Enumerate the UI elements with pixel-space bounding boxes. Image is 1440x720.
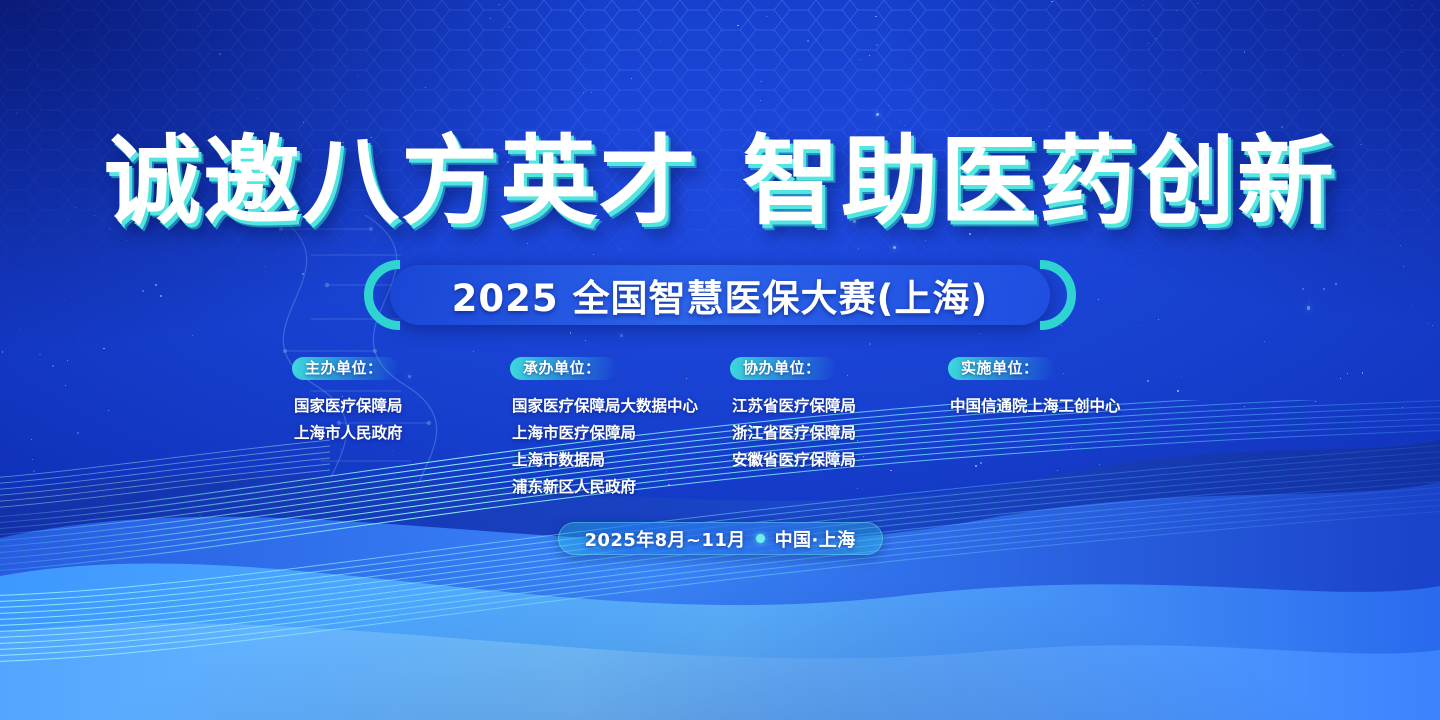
organizer-label-host: 主办单位： [292,357,398,380]
list-item: 国家医疗保障局大数据中心 [512,393,716,420]
organizer-label-coorganizer: 承办单位： [510,357,616,380]
subtitle-pill: 2025 全国智慧医保大赛(上海) [390,265,1051,325]
footer-container: 2025年8月~11月 中国·上海 [0,522,1440,555]
organizer-items-host: 国家医疗保障局 上海市人民政府 [276,393,494,447]
list-item: 中国信通院上海工创中心 [950,393,1164,420]
organizer-label-support: 协办单位： [730,357,836,380]
poster-content: 诚邀八方英才智助医药创新 2025 全国智慧医保大赛(上海) 主办单位： 国家医… [0,0,1440,720]
event-date: 2025年8月~11月 [585,526,746,552]
list-item: 上海市人民政府 [294,420,494,447]
list-item: 江苏省医疗保障局 [732,393,934,420]
organizer-column-executor: 实施单位： 中国信通院上海工创中心 [934,357,1164,501]
organizer-items-coorganizer: 国家医疗保障局大数据中心 上海市医疗保障局 上海市数据局 浦东新区人民政府 [494,393,716,501]
subtitle-text: 2025 全国智慧医保大赛(上海) [452,268,989,322]
separator-dot-icon [756,534,765,543]
list-item: 安徽省医疗保障局 [732,447,934,474]
list-item: 国家医疗保障局 [294,393,494,420]
organizer-items-executor: 中国信通院上海工创中心 [934,393,1164,420]
organizer-column-coorganizer: 承办单位： 国家医疗保障局大数据中心 上海市医疗保障局 上海市数据局 浦东新区人… [494,357,716,501]
organizer-column-support: 协办单位： 江苏省医疗保障局 浙江省医疗保障局 安徽省医疗保障局 [716,357,934,501]
list-item: 浦东新区人民政府 [512,474,716,501]
organizer-items-support: 江苏省医疗保障局 浙江省医疗保障局 安徽省医疗保障局 [716,393,934,474]
organizer-column-host: 主办单位： 国家医疗保障局 上海市人民政府 [276,357,494,501]
list-item: 浙江省医疗保障局 [732,420,934,447]
subtitle-container: 2025 全国智慧医保大赛(上海) [0,265,1440,325]
list-item: 上海市数据局 [512,447,716,474]
page-title: 诚邀八方英才智助医药创新 [0,133,1440,230]
list-item: 上海市医疗保障局 [512,420,716,447]
headline-part-1: 诚邀八方英才 [104,125,698,238]
poster-canvas: 诚邀八方英才智助医药创新 2025 全国智慧医保大赛(上海) 主办单位： 国家医… [0,0,1440,720]
organizers-section: 主办单位： 国家医疗保障局 上海市人民政府 承办单位： 国家医疗保障局大数据中心… [0,357,1440,501]
headline-part-2: 智助医药创新 [742,125,1336,238]
organizer-label-executor: 实施单位： [948,357,1054,380]
date-location-pill: 2025年8月~11月 中国·上海 [558,522,883,555]
event-location: 中国·上海 [775,526,856,552]
